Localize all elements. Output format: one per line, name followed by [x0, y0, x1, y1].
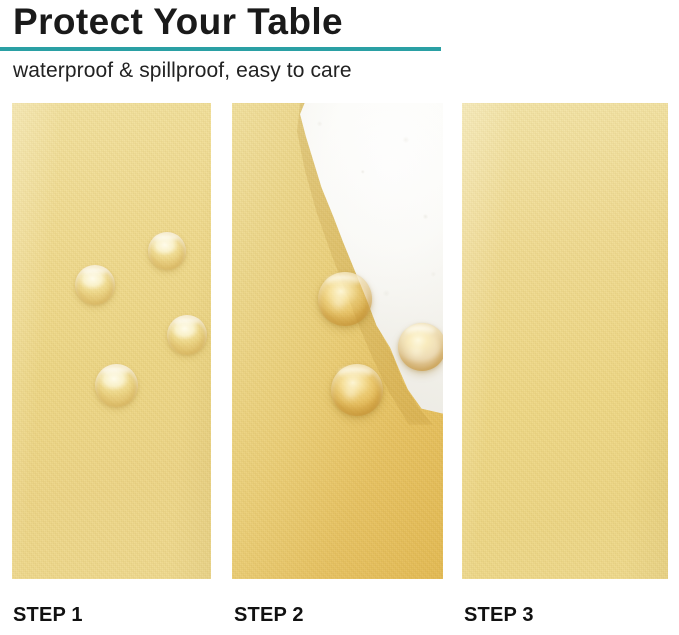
water-droplet — [75, 265, 115, 305]
step-label-1: STEP 1 — [13, 601, 83, 629]
page-subtitle: waterproof & spillproof, easy to care — [13, 57, 352, 85]
step-label-2: STEP 2 — [234, 601, 304, 629]
water-droplet — [318, 272, 372, 326]
water-droplet — [95, 364, 138, 407]
panel-step-1 — [12, 103, 211, 579]
water-droplet — [398, 323, 443, 371]
water-droplet — [167, 315, 207, 355]
step-label-3: STEP 3 — [464, 601, 534, 629]
title-divider — [0, 47, 441, 51]
page-title: Protect Your Table — [13, 0, 343, 46]
panel-step-2 — [232, 103, 443, 579]
step-labels: STEP 1 STEP 2 STEP 3 — [0, 601, 679, 635]
panel-strip — [0, 103, 679, 579]
header-block: Protect Your Table waterproof & spillpro… — [0, 0, 679, 92]
water-droplet — [331, 364, 383, 416]
water-droplet — [148, 232, 186, 270]
panel-step-3 — [462, 103, 668, 579]
panel-shading — [462, 103, 668, 579]
